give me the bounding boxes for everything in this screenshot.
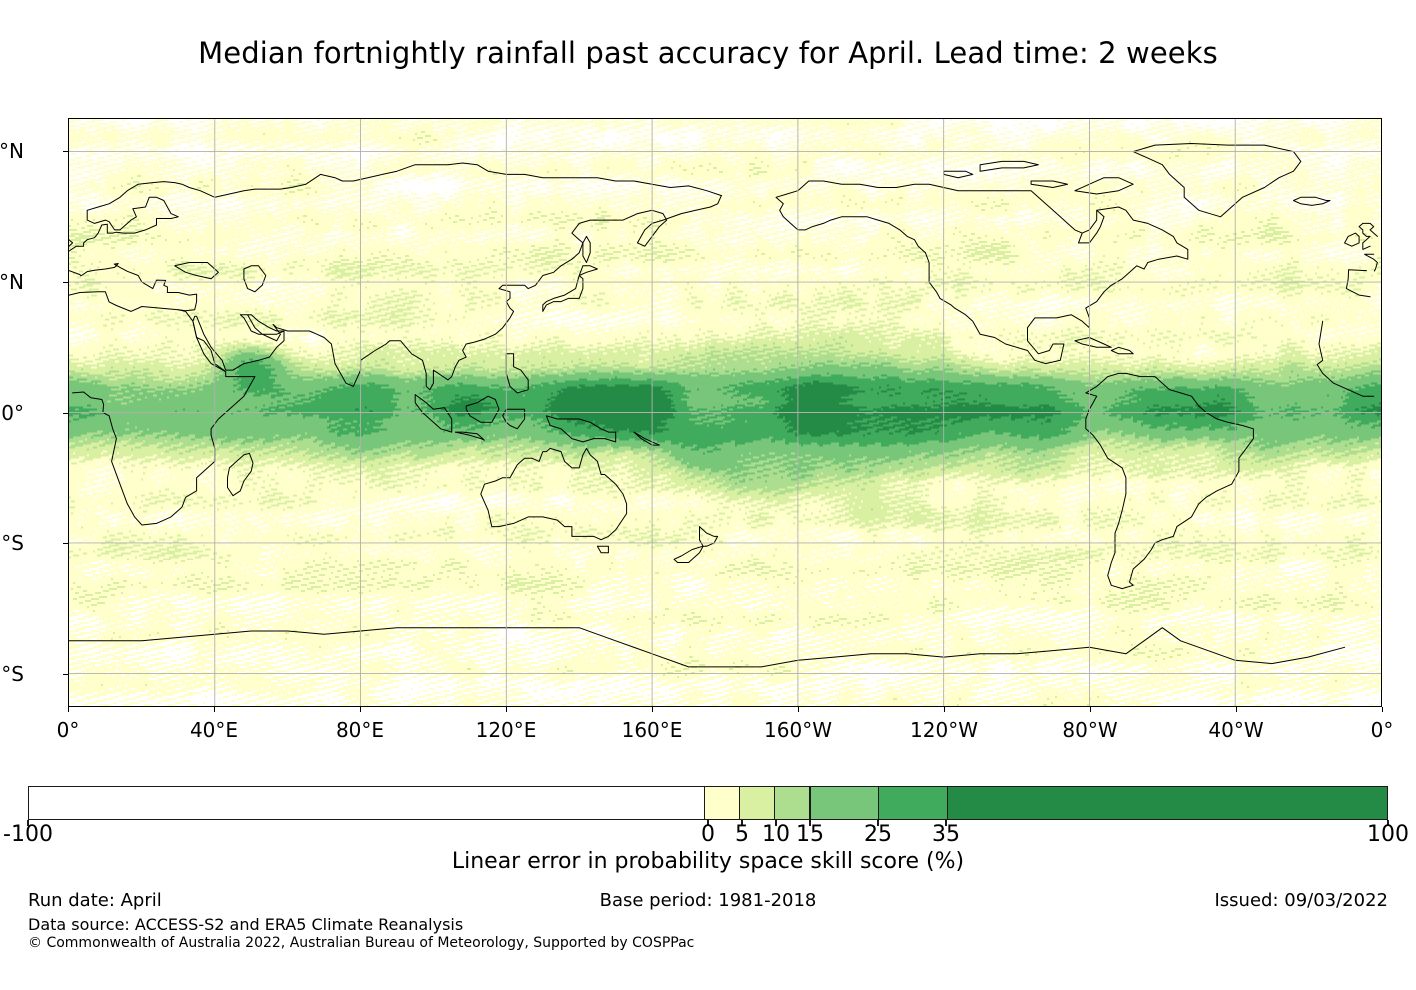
x-axis-tickmark bbox=[652, 707, 653, 712]
colorbar-segment bbox=[775, 787, 809, 819]
y-axis-tickmark bbox=[63, 282, 68, 283]
y-axis-tick-label: 40°S bbox=[0, 531, 24, 555]
x-axis-tickmark bbox=[1090, 707, 1091, 712]
y-axis-tickmark bbox=[63, 543, 68, 544]
colorbar-tick-label: 35 bbox=[932, 822, 960, 847]
y-axis-tick-label: 0° bbox=[1, 401, 24, 425]
colorbar-segment bbox=[948, 787, 1387, 819]
colorbar-container[interactable] bbox=[28, 786, 1388, 820]
x-axis-tick-label: 80°E bbox=[336, 718, 384, 742]
colorbar-tick-label: 15 bbox=[796, 822, 824, 847]
colorbar-segment bbox=[811, 787, 878, 819]
figure-footer: Run date: April Base period: 1981-2018 I… bbox=[0, 890, 1416, 960]
page-title: Median fortnightly rainfall past accurac… bbox=[0, 36, 1416, 70]
colorbar-tick-label: 10 bbox=[762, 822, 790, 847]
y-axis-tickmark bbox=[63, 674, 68, 675]
data-source-text: Data source: ACCESS-S2 and ERA5 Climate … bbox=[28, 915, 463, 934]
x-axis-tickmark bbox=[506, 707, 507, 712]
x-axis-tickmark bbox=[214, 707, 215, 712]
y-axis-tick-label: 80°S bbox=[0, 662, 24, 686]
x-axis-tick-label: 120°E bbox=[476, 718, 537, 742]
colorbar-tick-label: 5 bbox=[735, 822, 749, 847]
y-axis-tickmark bbox=[63, 151, 68, 152]
colorbar-title: Linear error in probability space skill … bbox=[0, 849, 1416, 874]
colorbar-segment bbox=[879, 787, 946, 819]
x-axis-tickmark bbox=[1236, 707, 1237, 712]
map-plot-area[interactable] bbox=[68, 118, 1382, 707]
colorbar-tick-label: 100 bbox=[1367, 822, 1409, 847]
x-axis-tick-label: 40°W bbox=[1208, 718, 1263, 742]
x-axis-tick-label: 120°W bbox=[910, 718, 978, 742]
map-clip bbox=[69, 119, 1381, 706]
x-axis-tickmark bbox=[798, 707, 799, 712]
colorbar[interactable] bbox=[28, 786, 1388, 820]
colorbar-segment bbox=[740, 787, 774, 819]
colorbar-segment bbox=[705, 787, 739, 819]
y-axis-tick-label: 40°N bbox=[0, 270, 24, 294]
x-axis-tick-label: 80°W bbox=[1062, 718, 1117, 742]
issued-date-text: Issued: 09/03/2022 bbox=[1214, 890, 1388, 911]
x-axis-tickmark bbox=[944, 707, 945, 712]
base-period-text: Base period: 1981-2018 bbox=[0, 890, 1416, 911]
colorbar-segment bbox=[29, 787, 704, 819]
x-axis-tick-label: 160°W bbox=[764, 718, 832, 742]
x-axis-tick-label: 0° bbox=[1371, 718, 1394, 742]
climate-map-figure: Median fortnightly rainfall past accurac… bbox=[0, 0, 1416, 990]
colorbar-tick-label: 0 bbox=[701, 822, 715, 847]
x-axis-tick-label: 40°E bbox=[190, 718, 238, 742]
y-axis-tickmark bbox=[63, 413, 68, 414]
colorbar-tick-label: -100 bbox=[3, 822, 53, 847]
x-axis-tickmark bbox=[68, 707, 69, 712]
graticule-gridlines bbox=[69, 119, 1381, 706]
x-axis-tickmark bbox=[360, 707, 361, 712]
copyright-text: © Commonwealth of Australia 2022, Austra… bbox=[28, 935, 694, 951]
x-axis-tickmark bbox=[1382, 707, 1383, 712]
x-axis-tick-label: 0° bbox=[57, 718, 80, 742]
x-axis-tick-label: 160°E bbox=[622, 718, 683, 742]
colorbar-tick-label: 25 bbox=[864, 822, 892, 847]
y-axis-tick-label: 80°N bbox=[0, 139, 24, 163]
